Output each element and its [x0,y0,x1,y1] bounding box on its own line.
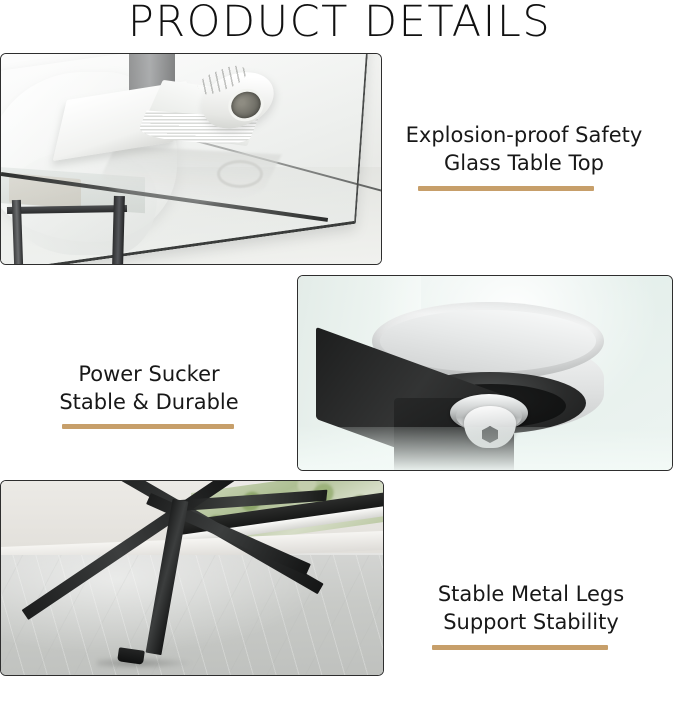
leg-floor-shadow [97,657,193,669]
feature-caption-glass-table-top: Explosion-proof Safety Glass Table Top [388,121,660,177]
caption-underline-power-sucker [62,424,234,429]
feature-image-glass-table-top [0,53,382,265]
sucker-photo-floor [298,427,672,470]
caption-line-1: Stable Metal Legs [438,582,624,606]
caption-line-2: Stable & Durable [30,388,268,416]
caption-line-2: Support Stability [400,608,662,636]
feature-image-power-sucker [297,275,673,471]
caption-line-1: Explosion-proof Safety [406,123,643,147]
caption-line-1: Power Sucker [78,362,219,386]
table-leg-front [112,196,125,265]
feature-image-metal-legs [0,480,384,676]
caption-underline-glass-table-top [418,186,594,191]
caption-line-2: Glass Table Top [388,149,660,177]
feature-caption-metal-legs: Stable Metal Legs Support Stability [400,580,662,636]
magazine-reflection [217,160,263,188]
page-title: PRODUCT DETAILS [0,0,679,45]
caption-underline-metal-legs [432,645,608,650]
feature-caption-power-sucker: Power Sucker Stable & Durable [30,360,268,416]
